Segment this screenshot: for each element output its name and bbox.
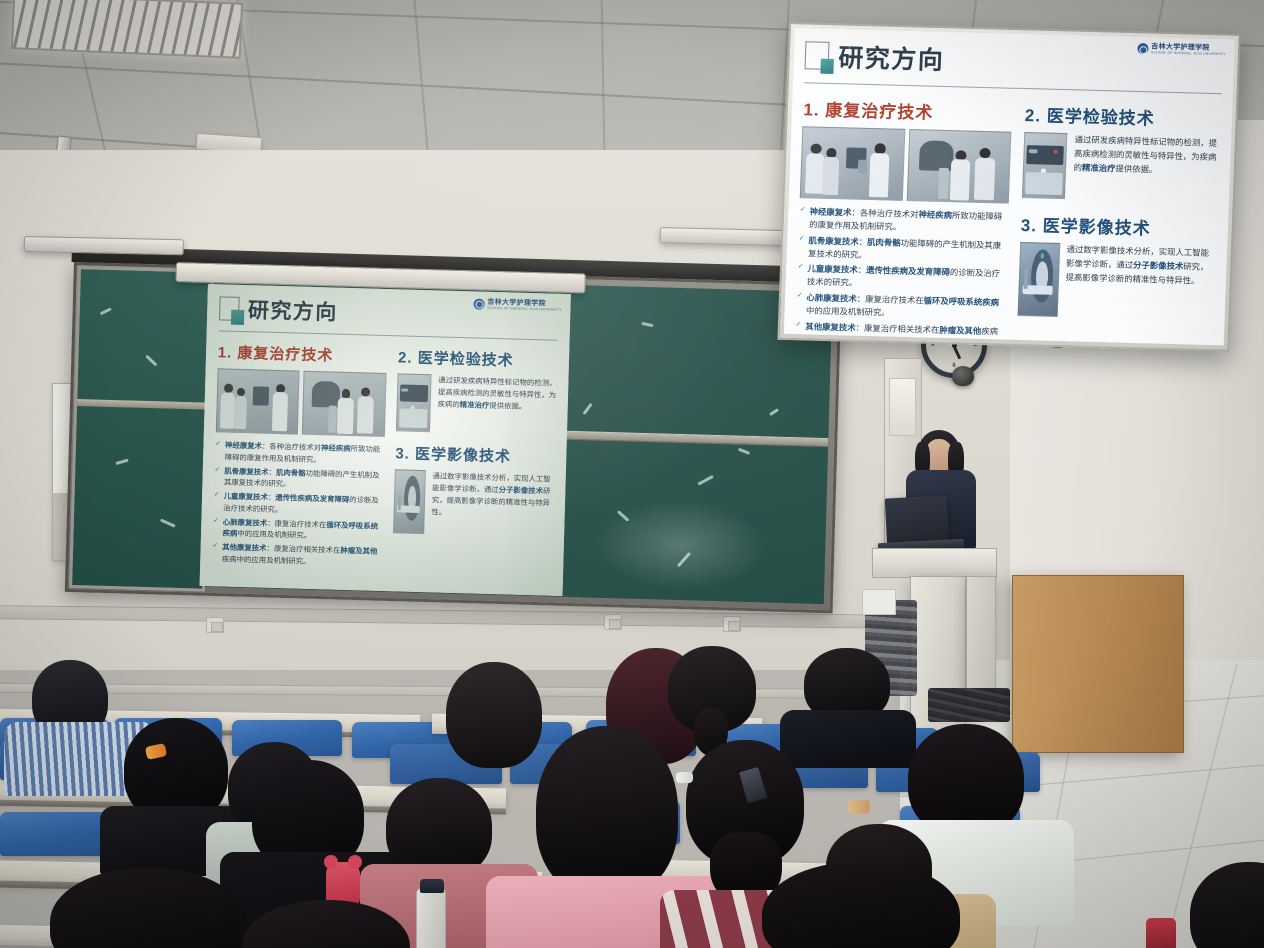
list-item: ✓ 肌骨康复技术：肌肉骨骼功能障碍的产生机制及其康复技术的研究。 bbox=[214, 465, 384, 493]
title-divider bbox=[218, 330, 558, 341]
check-icon: ✓ bbox=[797, 263, 804, 289]
list-item: ✓ 其他康复技术：康复治疗相关技术在肿瘤及其他疾病中的应用及机制研究。 bbox=[212, 541, 382, 569]
document-square-icon bbox=[805, 41, 830, 70]
cable-bundle bbox=[928, 688, 1010, 722]
rehab-clinical-team-photo bbox=[800, 127, 905, 202]
slide-column-left: 1. 康复治疗技术 bbox=[796, 96, 1012, 320]
lecture-hall-scene: 12 3 6 9 bbox=[0, 0, 1264, 948]
list-item: ✓ 心肺康复技术：康复治疗技术在循环及呼吸系统疾病中的应用及机制研究。 bbox=[212, 516, 382, 544]
wall-socket bbox=[604, 614, 622, 630]
check-icon: ✓ bbox=[213, 490, 220, 513]
slide-column-left: 1. 康复治疗技术 bbox=[212, 342, 388, 571]
check-icon: ✓ bbox=[799, 206, 806, 232]
hair bbox=[386, 778, 492, 878]
check-icon: ✓ bbox=[214, 465, 221, 488]
document-square-icon bbox=[219, 296, 240, 321]
list-item: ✓ 神经康复术：各种治疗技术对神经疾病所致功能障碍的康复作用及机制研究。 bbox=[215, 440, 385, 468]
slide-column-right: 2. 医学检验技术 通过研发疾病特异性标记物的检测，提高疾病检测的灵敏性与特 bbox=[1017, 101, 1221, 324]
section-3-heading: 3. 医学影像技术 bbox=[1020, 211, 1217, 241]
ct-mri-scanner-photo bbox=[393, 470, 425, 535]
rehab-lab-equipment-photo bbox=[906, 129, 1011, 204]
rehab-clinical-team-photo bbox=[215, 369, 300, 435]
section-3-paragraph: 通过数字影像技术分析，实现人工智能影像学诊断，通过分子影像技术研究，提高影像学诊… bbox=[431, 471, 554, 522]
check-icon: ✓ bbox=[215, 440, 222, 463]
list-item: ✓ 肌骨康复技术：肌肉骨骼功能障碍的产生机制及其康复技术的研究。 bbox=[798, 234, 1007, 265]
bag-strap bbox=[1146, 918, 1176, 948]
section-3-heading: 3. 医学影像技术 bbox=[395, 443, 555, 468]
student-foreground-far-right bbox=[1190, 862, 1264, 948]
check-icon: ✓ bbox=[798, 234, 805, 260]
wall-socket bbox=[206, 617, 224, 633]
student-foreground-center bbox=[236, 900, 416, 948]
logo-ring-icon bbox=[473, 298, 484, 309]
slide-column-right: 2. 医学检验技术 通过研发疾病特异性标记物的检测，提高疾病检测的灵敏性与特异性… bbox=[392, 347, 558, 576]
front-hanging-display-slide: 吉林大学护理学院 SCHOOL OF NURSING, JILIN UNIVER… bbox=[784, 28, 1235, 345]
projection-screen-slide: 吉林大学护理学院 SCHOOL OF NURSING, JILIN UNIVER… bbox=[200, 284, 571, 596]
section-1-heading: 1. 康复治疗技术 bbox=[803, 96, 1012, 126]
hair bbox=[536, 726, 678, 898]
water-bottle bbox=[416, 888, 446, 948]
hair bbox=[762, 862, 960, 948]
institution-logo: 吉林大学护理学院 SCHOOL OF NURSING, JILIN UNIVER… bbox=[473, 298, 562, 312]
rehab-lab-equipment-photo bbox=[302, 371, 387, 437]
list-item: ✓ 儿童康复技术：遗传性疾病及发育障碍的诊断及治疗技术的研究。 bbox=[213, 490, 383, 518]
list-item: ✓ 儿童康复技术：遗传性疾病及发育障碍的诊断及治疗技术的研究。 bbox=[797, 263, 1006, 294]
wall-socket bbox=[723, 616, 741, 632]
section-1-bullets: ✓ 神经康复术：各种治疗技术对神经疾病所致功能障碍的康复作用及机制研究。 ✓ 肌… bbox=[795, 206, 1008, 346]
hair-clip bbox=[676, 772, 693, 783]
student-foreground-right bbox=[750, 862, 970, 948]
section-2-paragraph: 通过研发疾病特异性标记物的检测，提高疾病检测的灵敏性与特异性，为疾病的精准治疗提… bbox=[1073, 134, 1220, 179]
projection-screen-housing bbox=[660, 227, 790, 246]
hair bbox=[242, 900, 410, 948]
dome-camera-icon bbox=[952, 366, 974, 386]
section-2-paragraph: 通过研发疾病特异性标记物的检测，提高疾病检测的灵敏性与特异性，为疾病的精准治疗提… bbox=[437, 375, 557, 414]
chalkboard-sliding-panel[interactable] bbox=[69, 266, 214, 592]
slide-title: 研究方向 bbox=[838, 38, 945, 77]
laboratory-analyzer-photo bbox=[1022, 132, 1068, 199]
section-1-photos bbox=[800, 127, 1011, 204]
wall-notice-small bbox=[862, 589, 896, 615]
section-1-photos bbox=[215, 369, 386, 438]
section-2-heading: 2. 医学检验技术 bbox=[398, 347, 558, 372]
section-1-heading: 1. 康复治疗技术 bbox=[217, 342, 387, 368]
section-3-paragraph: 通过数字影像技术分析，实现人工智能影像学诊断，通过分子影像技术研究，提高影像学诊… bbox=[1065, 244, 1216, 289]
title-divider bbox=[804, 82, 1221, 95]
institution-logo: 吉林大学护理学院 SCHOOL OF NURSING, JILIN UNIVER… bbox=[1137, 43, 1226, 57]
list-item: ✓ 神经康复术：各种治疗技术对神经疾病所致功能障碍的康复作用及机制研究。 bbox=[799, 206, 1008, 237]
check-icon: ✓ bbox=[796, 291, 803, 317]
podium-column-label bbox=[889, 378, 916, 436]
logo-ring-icon bbox=[1137, 43, 1148, 54]
slide-title: 研究方向 bbox=[248, 294, 339, 327]
hair bbox=[1190, 862, 1264, 948]
laboratory-analyzer-photo bbox=[396, 374, 431, 433]
section-2-heading: 2. 医学检验技术 bbox=[1024, 101, 1221, 131]
section-1-bullets: ✓ 神经康复术：各种治疗技术对神经疾病所致功能障碍的康复作用及机制研究。 ✓ 肌… bbox=[212, 440, 385, 569]
check-icon: ✓ bbox=[212, 541, 219, 564]
hair-clip bbox=[848, 800, 870, 814]
check-icon: ✓ bbox=[212, 516, 219, 539]
ceiling-light-fixture bbox=[11, 0, 243, 59]
hair bbox=[50, 868, 246, 948]
list-item: ✓ 心肺康复技术：康复治疗技术在循环及呼吸系统疾病中的应用及机制研究。 bbox=[796, 291, 1005, 322]
student-foreground-left bbox=[40, 868, 260, 948]
ct-mri-scanner-photo bbox=[1018, 242, 1060, 317]
projection-screen-housing bbox=[24, 236, 184, 255]
lectern-top bbox=[872, 548, 997, 578]
